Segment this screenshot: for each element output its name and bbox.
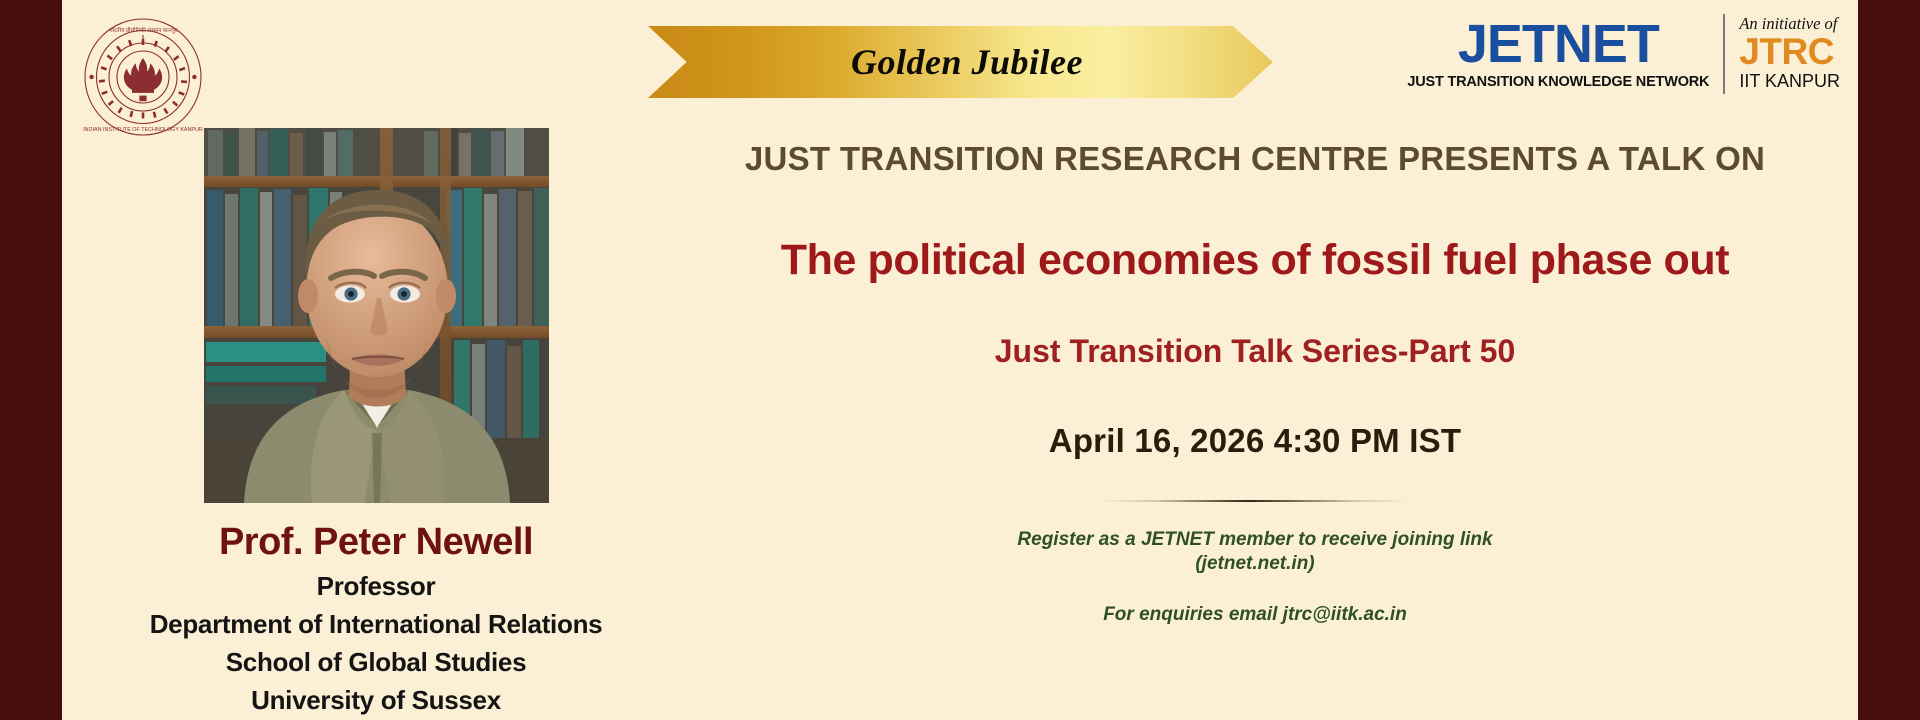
left-accent-bar: [0, 0, 62, 720]
speaker-affiliation-line: Department of International Relations: [62, 609, 690, 640]
event-poster: भारतीय प्रौद्योगिकी संस्थान कानपुर INDIA…: [0, 0, 1920, 720]
talk-title: The political economies of fossil fuel p…: [690, 236, 1820, 285]
section-divider: [1100, 500, 1410, 502]
right-accent-bar: [1858, 0, 1920, 720]
main-content-column: JUST TRANSITION RESEARCH CENTRE PRESENTS…: [690, 140, 1820, 627]
speaker-affiliation-line: School of Global Studies: [62, 647, 690, 678]
jtrc-block: An initiative of JTRC IIT KANPUR: [1725, 12, 1840, 96]
golden-jubilee-ribbon: Golden Jubilee: [648, 26, 1272, 98]
registration-note: Register as a JETNET member to receive j…: [690, 528, 1820, 577]
jetnet-tagline: JUST TRANSITION KNOWLEDGE NETWORK: [1407, 74, 1709, 90]
speaker-name: Prof. Peter Newell: [62, 521, 690, 564]
speaker-photo: [204, 128, 549, 503]
registration-note-line1: Register as a JETNET member to receive j…: [690, 528, 1820, 552]
speaker-affiliation-line: University of Sussex: [62, 685, 690, 716]
golden-jubilee-label: Golden Jubilee: [851, 41, 1083, 83]
event-datetime: April 16, 2026 4:30 PM IST: [690, 422, 1820, 460]
jtrc-wordmark: JTRC: [1739, 33, 1834, 72]
svg-text:भारतीय प्रौद्योगिकी संस्थान का: भारतीय प्रौद्योगिकी संस्थान कानपुर: [109, 26, 178, 34]
speaker-column: Prof. Peter Newell Professor Department …: [62, 128, 690, 716]
talk-series-label: Just Transition Talk Series-Part 50: [690, 333, 1820, 370]
registration-note-line2: (jetnet.net.in): [690, 552, 1820, 576]
jetnet-wordmark: JETNET: [1458, 18, 1659, 71]
speaker-affiliation-line: Professor: [62, 571, 690, 602]
jetnet-logo: JETNET JUST TRANSITION KNOWLEDGE NETWORK…: [1407, 12, 1840, 96]
presents-heading: JUST TRANSITION RESEARCH CENTRE PRESENTS…: [690, 140, 1820, 178]
enquiries-note: For enquiries email jtrc@iitk.ac.in: [690, 603, 1820, 627]
jetnet-left-block: JETNET JUST TRANSITION KNOWLEDGE NETWORK: [1407, 12, 1723, 96]
iitk-logo: भारतीय प्रौद्योगिकी संस्थान कानपुर INDIA…: [83, 17, 203, 137]
jtrc-location: IIT KANPUR: [1739, 72, 1840, 92]
